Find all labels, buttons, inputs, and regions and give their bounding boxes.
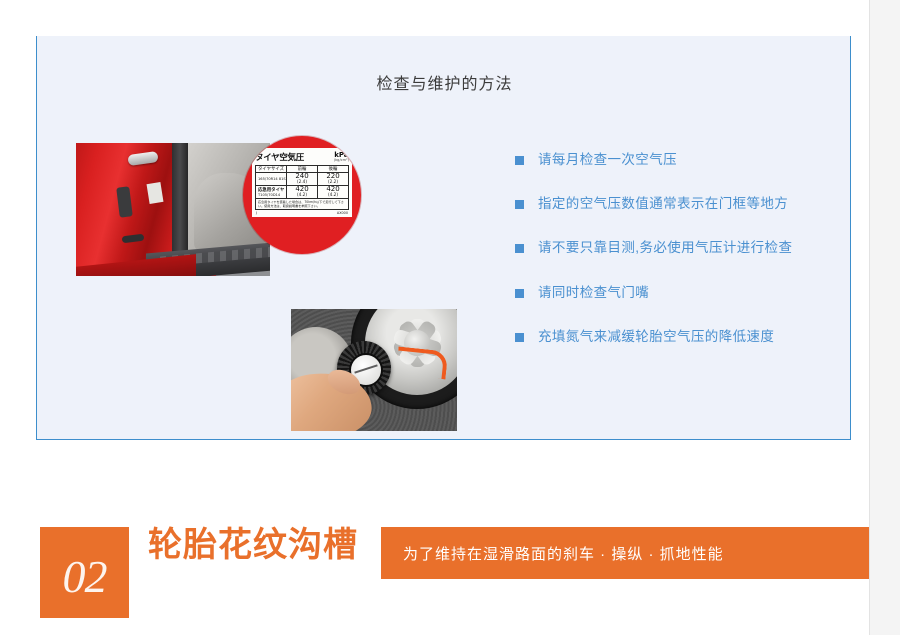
section-banner: 为了维持在湿滑路面的刹车 · 操纵 · 抓地性能 [381, 527, 900, 579]
placard-front-cell: 240 (2.4) [287, 173, 318, 186]
list-item-label: 请同时检查气门嘴 [538, 285, 649, 301]
placard-front-cell: 420 (4.2) [287, 185, 318, 198]
tire-gauge-photo [291, 309, 457, 431]
list-item-label: 充填氮气来减缓轮胎空气压的降低速度 [538, 329, 774, 345]
square-bullet-icon [515, 244, 524, 253]
placard-unit: kPa (kg/cm²) [334, 152, 349, 163]
placard-note: 応急用タイヤを装着した場合は、70km/h以下で走行して下さい。使用方法は、取扱… [255, 199, 349, 210]
door-jamb-photo [76, 143, 270, 276]
placard-unit-sub: (kg/cm²) [334, 159, 349, 163]
placard-col-size: タイヤサイズ [256, 166, 287, 173]
placard-foot-right: AX000 [337, 211, 348, 215]
list-item-label: 请不要只靠目测,务必使用气压计进行检查 [538, 240, 792, 256]
placard-rear-cell: 220 (2.2) [318, 173, 349, 186]
tire-pressure-placard: タイヤ空気圧 kPa (kg/cm²) タイヤサイズ 前輪 後輪 165/70R… [252, 148, 352, 217]
list-item: 请每月检查一次空气压 [515, 152, 845, 168]
table-row: 応急用タイヤ T105/70D14 420 (4.2) 420 (4.2) [256, 185, 349, 198]
list-item-label: 请每月检查一次空气压 [538, 152, 677, 168]
list-item: 请不要只靠目测,务必使用气压计进行检查 [515, 240, 845, 256]
placard-header: タイヤ空気圧 kPa (kg/cm²) [255, 151, 349, 163]
list-item: 充填氮气来减缓轮胎空气压的降低速度 [515, 329, 845, 345]
section-heading: 轮胎花纹沟槽 [148, 528, 358, 564]
square-bullet-icon [515, 156, 524, 165]
maintenance-bullet-list: 请每月检查一次空气压 指定的空气压数值通常表示在门框等地方 请不要只靠目测,务必… [515, 152, 845, 373]
placard-size-name: 応急用タイヤ [256, 187, 286, 193]
placard-size-code: 165/70R14 81S [256, 177, 286, 181]
square-bullet-icon [515, 333, 524, 342]
table-row: 165/70R14 81S 240 (2.4) 220 (2.2) [256, 173, 349, 186]
placard-front-value-sub: (4.2) [287, 193, 317, 197]
list-item: 请同时检查气门嘴 [515, 285, 845, 301]
placard-size-code: T105/70D14 [256, 193, 286, 197]
placard-footer: J AX000 [255, 210, 349, 215]
section-banner-text: 为了维持在湿滑路面的刹车 · 操纵 · 抓地性能 [381, 543, 724, 564]
placard-rear-value-sub: (4.2) [318, 193, 348, 197]
placard-size-cell: 165/70R14 81S [256, 173, 287, 186]
placard-rear-cell: 420 (4.2) [318, 185, 349, 198]
square-bullet-icon [515, 289, 524, 298]
pressure-label-callout: タイヤ空気圧 kPa (kg/cm²) タイヤサイズ 前輪 後輪 165/70R… [243, 136, 361, 254]
placard-size-cell: 応急用タイヤ T105/70D14 [256, 185, 287, 198]
list-item-label: 指定的空气压数值通常表示在门框等地方 [538, 196, 788, 212]
placard-foot-left: J [256, 211, 257, 215]
page-title: 检查与维护的方法 [37, 70, 852, 94]
list-item: 指定的空气压数值通常表示在门框等地方 [515, 196, 845, 212]
square-bullet-icon [515, 200, 524, 209]
door-seal [172, 143, 188, 263]
placard-table: タイヤサイズ 前輪 後輪 165/70R14 81S 240 (2.4) 220 [255, 165, 349, 199]
placard-title: タイヤ空気圧 [255, 151, 304, 163]
section-number: 02 [40, 527, 129, 618]
info-panel: 检查与维护的方法 タイヤ空気圧 kPa (kg/cm²) タイヤサイズ [36, 36, 851, 440]
section-number-box: 02 [40, 527, 129, 618]
page-right-gutter [869, 0, 900, 635]
door-jamb-sticker [147, 182, 164, 204]
